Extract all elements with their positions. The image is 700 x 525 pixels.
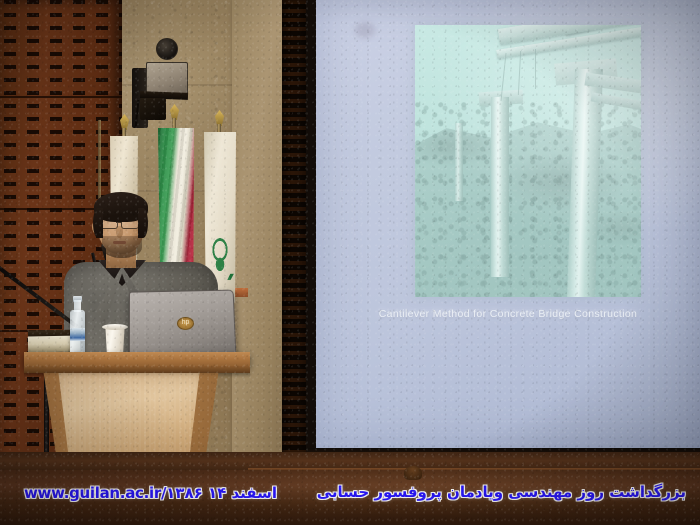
panel-seam — [0, 96, 122, 98]
camera-lens-icon — [156, 38, 178, 60]
paper-cup-rim — [102, 324, 128, 330]
caption-url-date: www.guilan.ac.ir/۱۳۸۶ ۱۴ اسفند — [24, 484, 277, 502]
bridge-cable — [535, 49, 536, 89]
presentation-photo: Cantilever Method for Concrete Bridge Co… — [0, 0, 700, 525]
screen-smudge — [355, 22, 375, 38]
speaker-mouth — [113, 241, 126, 244]
floor-lamp-silhouette — [404, 466, 422, 480]
speaker-hair-side — [138, 208, 148, 238]
speaker-beard — [102, 236, 142, 258]
laptop-lid — [129, 290, 236, 360]
water-bottle-label — [70, 328, 85, 341]
bridge-pier-far — [455, 123, 463, 201]
bridge-pier-mid — [491, 97, 509, 277]
podium-desktop-edge — [24, 366, 250, 373]
hp-logo-icon — [177, 317, 194, 330]
slide-hillside-texture — [415, 101, 641, 297]
slide-caption: Cantilever Method for Concrete Bridge Co… — [316, 308, 700, 320]
slide-photo-bridge — [415, 25, 641, 297]
beige-pillar — [232, 0, 286, 470]
caption-event-title: بزرگداشت روز مهندسی ویادمان پروفسور حساب… — [317, 483, 686, 501]
camera-mount — [140, 98, 166, 120]
dark-slat-strip — [282, 0, 308, 456]
speaker-hair-side — [93, 208, 103, 238]
